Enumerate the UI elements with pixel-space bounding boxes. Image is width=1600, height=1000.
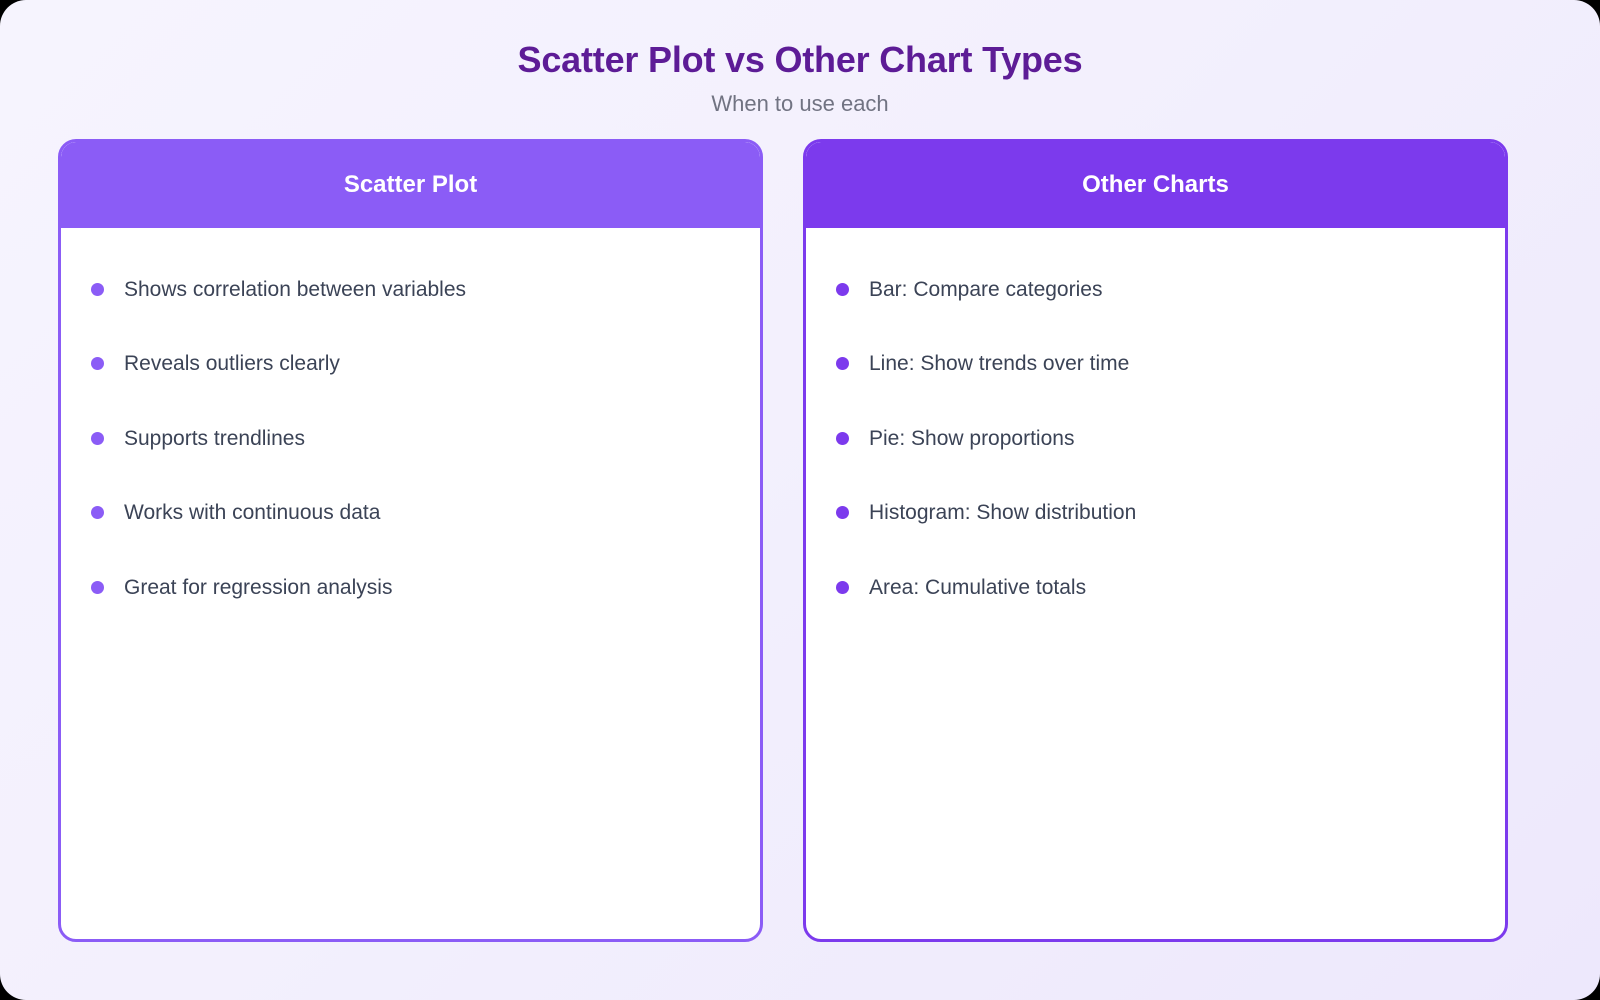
card-body-other-charts: Bar: Compare categoriesLine: Show trends… [806,228,1505,939]
bullet-dot-icon [836,283,849,296]
page-subtitle: When to use each [0,91,1600,117]
card-body-scatter-plot: Shows correlation between variablesRevea… [61,228,760,939]
list-item-label: Supports trendlines [124,426,305,451]
card-title-other-charts: Other Charts [1082,171,1229,200]
list-item-label: Great for regression analysis [124,575,392,600]
list-item: Bar: Compare categories [836,252,1475,327]
bullet-dot-icon [91,506,104,519]
list-item: Area: Cumulative totals [836,550,1475,625]
page-title: Scatter Plot vs Other Chart Types [0,38,1600,81]
list-item: Reveals outliers clearly [91,327,730,402]
list-item-label: Pie: Show proportions [869,426,1074,451]
list-item-label: Line: Show trends over time [869,351,1129,376]
list-item-label: Histogram: Show distribution [869,500,1136,525]
bullet-dot-icon [836,432,849,445]
bullet-dot-icon [91,357,104,370]
bullet-dot-icon [91,283,104,296]
bullet-dot-icon [91,432,104,445]
list-item: Great for regression analysis [91,550,730,625]
list-item: Line: Show trends over time [836,327,1475,402]
card-title-scatter-plot: Scatter Plot [344,171,477,200]
comparison-cards-container: Scatter PlotShows correlation between va… [58,139,1508,942]
comparison-card-scatter-plot: Scatter PlotShows correlation between va… [58,139,763,942]
list-item: Histogram: Show distribution [836,476,1475,551]
bullet-dot-icon [836,581,849,594]
list-item-label: Shows correlation between variables [124,277,466,302]
bullet-dot-icon [836,357,849,370]
card-header-scatter-plot: Scatter Plot [61,142,760,228]
list-item: Supports trendlines [91,401,730,476]
list-item: Shows correlation between variables [91,252,730,327]
bullet-dot-icon [91,581,104,594]
list-item-label: Bar: Compare categories [869,277,1102,302]
list-item-label: Works with continuous data [124,500,380,525]
list-item-label: Reveals outliers clearly [124,351,340,376]
list-item: Works with continuous data [91,476,730,551]
list-item-label: Area: Cumulative totals [869,575,1086,600]
comparison-infographic: Scatter Plot vs Other Chart Types When t… [0,0,1600,1000]
page-header: Scatter Plot vs Other Chart Types When t… [0,0,1600,118]
bullet-dot-icon [836,506,849,519]
card-header-other-charts: Other Charts [806,142,1505,228]
comparison-card-other-charts: Other ChartsBar: Compare categoriesLine:… [803,139,1508,942]
list-item: Pie: Show proportions [836,401,1475,476]
